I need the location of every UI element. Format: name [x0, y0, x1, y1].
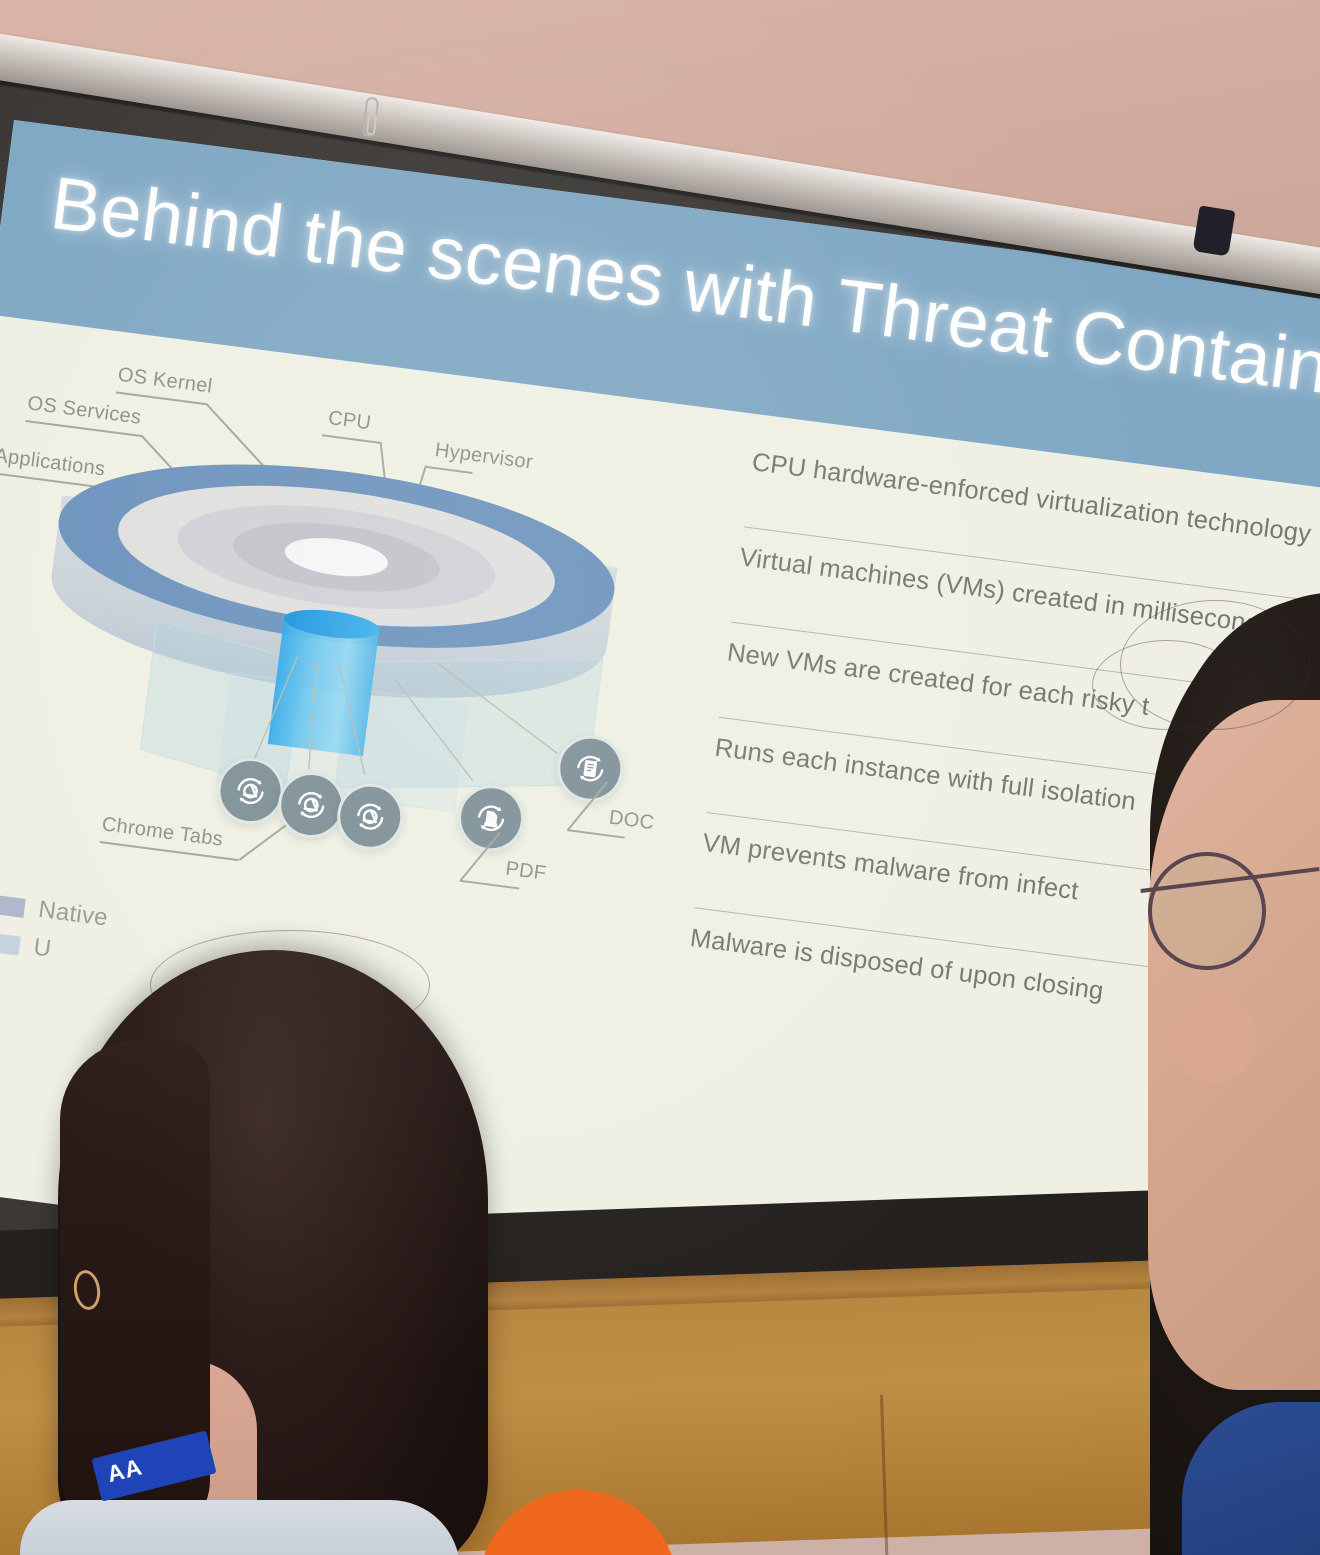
attendee-right-nose: [1170, 996, 1256, 1082]
screen-roller-endcap: [1193, 205, 1236, 256]
lanyard-text: AA: [105, 1453, 146, 1488]
threat-containment-diagram: Applications OS Services OS Kernel CPU H…: [0, 327, 701, 972]
hair-wisp: [150, 930, 430, 1040]
diagram-connector-lines: [0, 327, 701, 972]
hair-wisp: [1120, 600, 1310, 730]
legend-label-unsecure: U: [32, 934, 53, 964]
photo-scene: Behind the scenes with Threat Containmen…: [0, 0, 1320, 1555]
glasses-lens-icon: [1148, 852, 1266, 970]
attendee-left-shirt: [20, 1500, 460, 1555]
legend-swatch-unsecure: [0, 924, 21, 955]
